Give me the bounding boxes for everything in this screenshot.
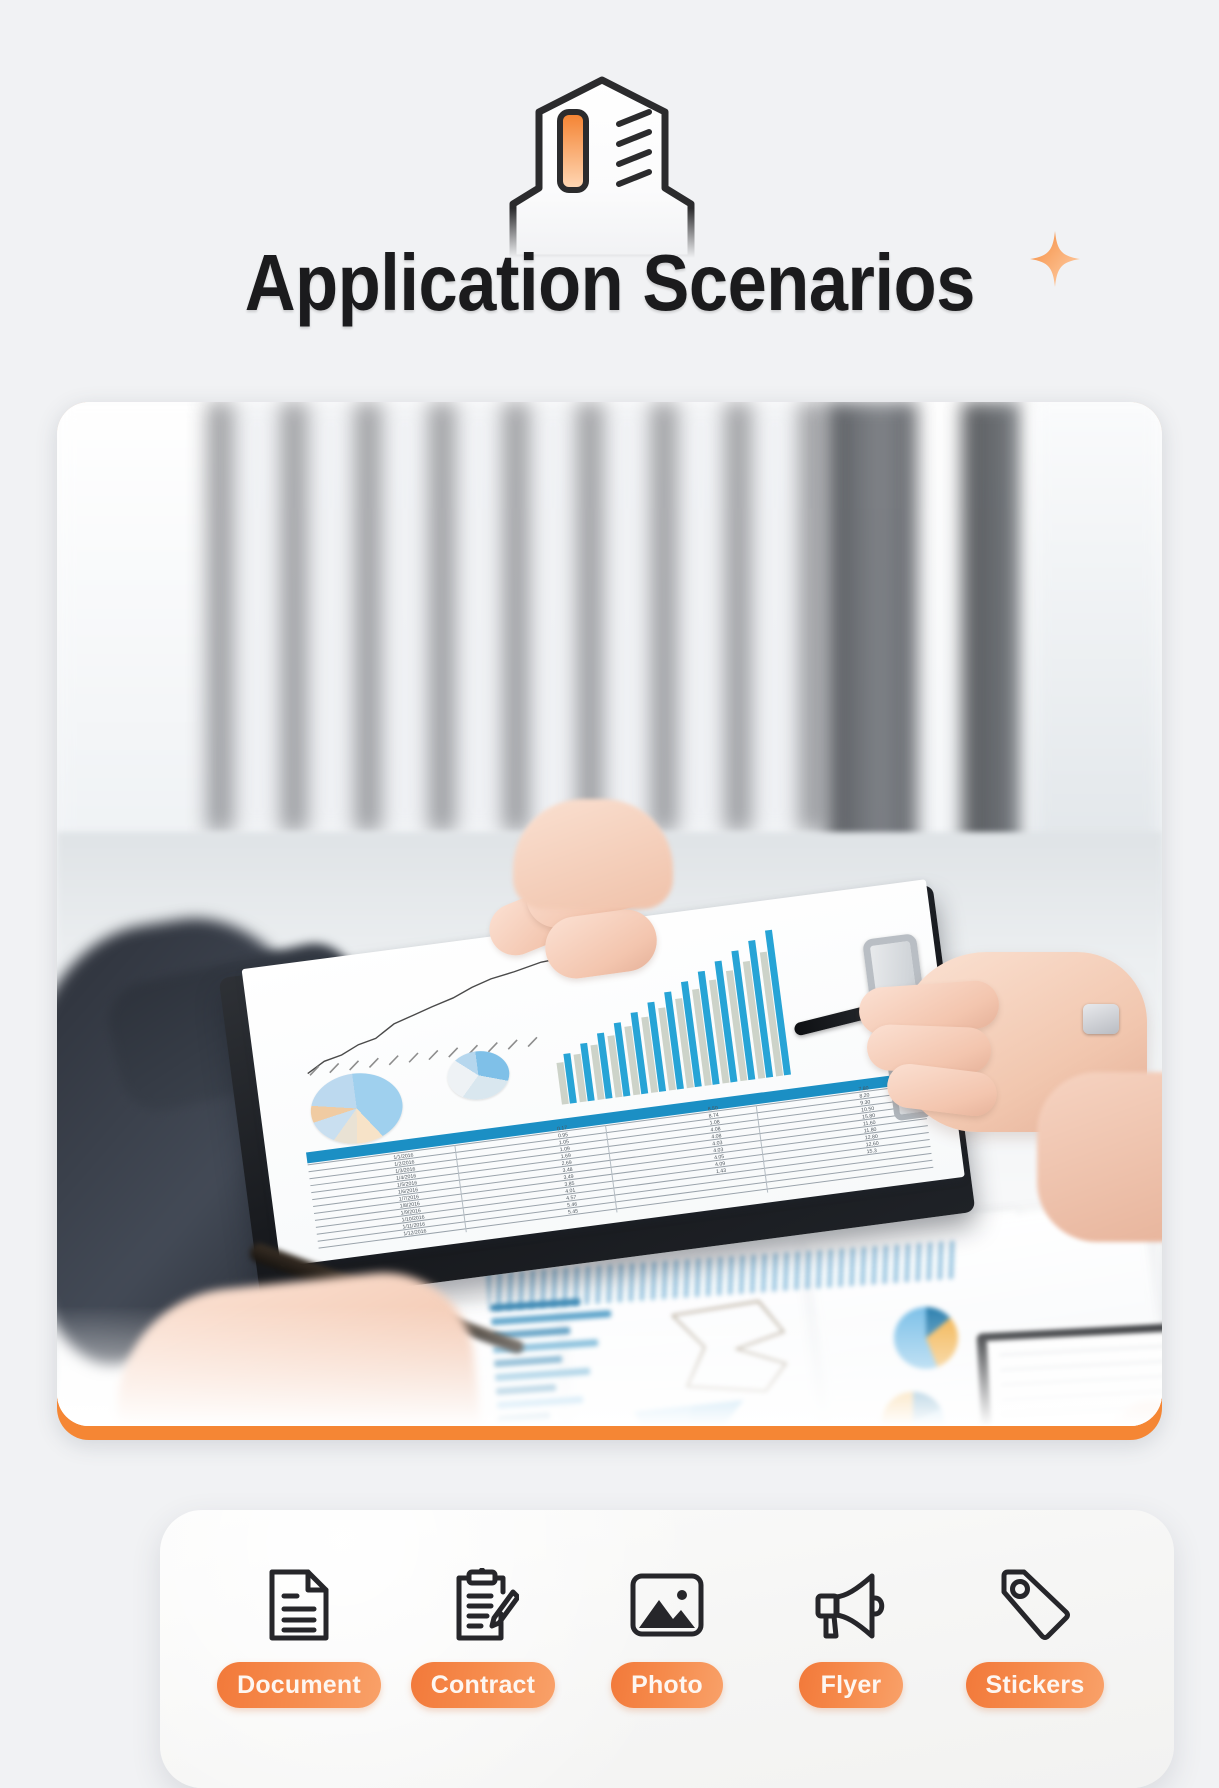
scenario-photo: 1/1/20161/2/20161/3/20161/4/20161/5/2016… (57, 402, 1162, 1426)
category-stickers[interactable]: Stickers (950, 1568, 1120, 1708)
report-table-cell: 12.60 (865, 1141, 879, 1149)
scenario-photo-panel: 1/1/20161/2/20161/3/20161/4/20161/5/2016… (57, 402, 1162, 1440)
price-tag-icon (998, 1568, 1072, 1642)
page-header: Application Scenarios (0, 0, 1219, 396)
category-flyer[interactable]: Flyer (766, 1568, 936, 1708)
category-label-document[interactable]: Document (217, 1662, 381, 1708)
category-label-contract[interactable]: Contract (411, 1662, 555, 1708)
building-icon (495, 68, 710, 258)
category-card: Document Contract (160, 1510, 1174, 1788)
sparkle-icon (1030, 231, 1080, 287)
megaphone-icon (812, 1568, 890, 1642)
page-title: Application Scenarios (244, 236, 974, 330)
report-table-cell: 15.3 (866, 1148, 877, 1155)
category-contract[interactable]: Contract (398, 1568, 568, 1708)
category-label-flyer[interactable]: Flyer (799, 1662, 903, 1708)
clipboard-pencil-icon (447, 1568, 519, 1642)
report-table-cell: 1.43 (716, 1168, 727, 1175)
image-icon (629, 1568, 705, 1642)
category-document[interactable]: Document (214, 1568, 384, 1708)
document-icon (264, 1568, 334, 1642)
hand-with-pen (887, 922, 1162, 1252)
category-label-photo[interactable]: Photo (611, 1662, 723, 1708)
hand-holding-clipboard (487, 857, 667, 1007)
report-table-cell: 5.45 (568, 1208, 579, 1215)
category-photo[interactable]: Photo (582, 1568, 752, 1708)
category-label-stickers[interactable]: Stickers (966, 1662, 1105, 1708)
